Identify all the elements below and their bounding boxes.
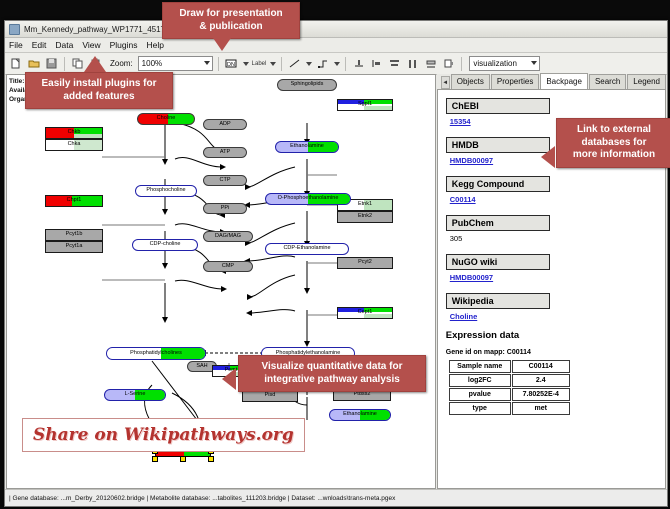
node-ADP[interactable]: ADP (203, 119, 247, 130)
tab-properties[interactable]: Properties (491, 74, 539, 89)
connector-dropdown-icon[interactable] (334, 62, 340, 66)
db-header-kegg: Kegg Compound (446, 176, 550, 192)
line-icon[interactable] (287, 56, 302, 71)
node-L-Serine-left[interactable]: L-Serine (104, 389, 166, 401)
copy-icon[interactable] (70, 56, 85, 71)
db-header-hmdb: HMDB (446, 137, 550, 153)
db-value-pubchem: 305 (450, 234, 665, 243)
plugins-callout-line2: added features (34, 91, 164, 104)
chevron-down-icon (204, 61, 210, 65)
expression-table: Sample name C00114 log2FC 2.4 pvalue 7.8… (448, 359, 571, 416)
datanode-dropdown-icon[interactable] (243, 62, 249, 66)
align-top-icon[interactable] (351, 56, 366, 71)
cell-value-pvalue: 7.80252E-4 (512, 388, 570, 401)
stack-icon[interactable] (423, 56, 438, 71)
gene-id-line: Gene id on mapp: C00114 (446, 349, 665, 356)
status-bar: | Gene database: ...m_Derby_20120602.bri… (5, 489, 667, 506)
db-link-nugo[interactable]: HMDB00097 (450, 273, 665, 282)
menu-item-plugins[interactable]: Plugins (110, 40, 138, 50)
external-db-callout-line3: more information (565, 149, 663, 162)
resize-handle-s[interactable] (180, 456, 186, 462)
tab-backpage[interactable]: Backpage (540, 73, 588, 90)
menu-item-edit[interactable]: Edit (32, 40, 47, 50)
zoom-value: 100% (142, 59, 162, 68)
resize-handle-se[interactable] (208, 456, 214, 462)
node-Phosphocholine[interactable]: Phosphocholine (135, 185, 197, 197)
draw-callout: Draw for presentation & publication (162, 2, 300, 39)
menu-item-file[interactable]: File (9, 40, 23, 50)
plugins-callout-line1: Easily install plugins for (34, 78, 164, 91)
resize-handle-sw[interactable] (152, 456, 158, 462)
label-dropdown-icon[interactable] (270, 62, 276, 66)
menu-item-view[interactable]: View (82, 40, 100, 50)
status-bar-text: | Gene database: ...m_Derby_20120602.bri… (9, 495, 395, 502)
visualize-callout: Visualize quantitative data for integrat… (238, 355, 426, 392)
toolbar-sep-3 (281, 57, 282, 71)
node-Chkb[interactable]: Chkb (45, 127, 103, 139)
toolbar-sep-4 (345, 57, 346, 71)
node-Ethanolamine[interactable]: Ethanolamine (275, 141, 339, 153)
node-Sgpl1[interactable]: Sgpl1 (337, 99, 393, 111)
node-CDP-Ethanolamine[interactable]: CDP-Ethanolamine (265, 243, 349, 255)
tab-objects[interactable]: Objects (451, 74, 490, 89)
node-Etnk2[interactable]: Etnk2 (337, 211, 393, 223)
chevron-down-icon (531, 61, 537, 65)
tab-legend[interactable]: Legend (627, 74, 666, 89)
distribute-horizontal-icon[interactable] (405, 56, 420, 71)
title-bar: Mm_Kennedy_pathway_WP1771_45176.gpml (5, 21, 667, 38)
toolbar-sep-2 (218, 57, 219, 71)
external-db-callout-arrow (541, 146, 555, 168)
cell-key-type: type (449, 402, 511, 415)
share-callout: Share on Wikipathways.org (22, 418, 305, 452)
node-Chpt1[interactable]: Chpt1 (45, 195, 103, 207)
tab-search[interactable]: Search (589, 74, 626, 89)
label-tool-label[interactable]: Label (252, 61, 267, 67)
db-header-pubchem: PubChem (446, 215, 550, 231)
cell-key-pvalue: pvalue (449, 388, 511, 401)
cell-value-type: met (512, 402, 570, 415)
menu-item-data[interactable]: Data (55, 40, 73, 50)
datanode-icon[interactable]: DN (224, 56, 239, 71)
cell-value-log2fc: 2.4 (512, 374, 570, 387)
table-row: type met (449, 402, 570, 415)
new-file-icon[interactable] (8, 56, 23, 71)
distribute-vertical-icon[interactable] (387, 56, 402, 71)
node-CTP[interactable]: CTP (203, 175, 247, 186)
node-Pcyt2[interactable]: Pcyt2 (337, 257, 393, 269)
db-header-chebi: ChEBI (446, 98, 550, 114)
expression-data-heading: Expression data (446, 330, 665, 341)
toolbar-sep-5 (461, 57, 462, 71)
order-icon[interactable] (441, 56, 456, 71)
cell-key-sample-name: Sample name (449, 360, 511, 373)
visualization-value: visualization (473, 59, 517, 68)
line-dropdown-icon[interactable] (306, 62, 312, 66)
toolbar-sep-1 (64, 57, 65, 71)
node-Chka[interactable]: Chka (45, 139, 103, 151)
save-icon[interactable] (44, 56, 59, 71)
side-panel-tabs: ◄ Objects Properties Backpage Search Leg… (437, 74, 666, 89)
app-icon (9, 24, 20, 35)
node-CDP-choline[interactable]: CDP-choline (132, 239, 198, 251)
node-O-Phosphoethanolamine[interactable]: O-Phosphoethanolamine (265, 193, 351, 205)
visualize-callout-arrow-right (412, 368, 426, 390)
db-header-nugo: NuGO wiki (446, 254, 550, 270)
node-Pcyt1b[interactable]: Pcyt1b (45, 229, 103, 241)
node-ATP[interactable]: ATP (203, 147, 247, 158)
zoom-select[interactable]: 100% (138, 56, 213, 71)
connector-icon[interactable] (315, 56, 330, 71)
node-PPi[interactable]: PPi (203, 203, 247, 214)
open-folder-icon[interactable] (26, 56, 41, 71)
screenshot-root: Mm_Kennedy_pathway_WP1771_45176.gpml Fil… (0, 0, 670, 509)
external-db-callout-line2: databases for (565, 137, 663, 150)
node-Sphingolipids[interactable]: Sphingolipids (277, 79, 337, 91)
node-Pcyt1a[interactable]: Pcyt1a (45, 241, 103, 253)
node-Ethanolamine-bottom[interactable]: Ethanolamine (329, 409, 391, 421)
plugins-callout: Easily install plugins for added feature… (25, 72, 173, 109)
table-row: Sample name C00114 (449, 360, 570, 373)
cell-value-sample-name: C00114 (512, 360, 570, 373)
svg-text:DN: DN (227, 62, 235, 68)
node-CMP[interactable]: CMP (203, 261, 253, 272)
node-Phosphatidylcholines[interactable]: Phosphatidylcholines (106, 347, 206, 360)
menu-item-help[interactable]: Help (147, 40, 164, 50)
node-Cept1[interactable]: Cept1 (337, 307, 393, 319)
align-left-icon[interactable] (369, 56, 384, 71)
db-link-kegg[interactable]: C00114 (450, 195, 665, 204)
share-callout-text: Share on Wikipathways.org (33, 425, 294, 445)
draw-callout-line2: & publication (171, 21, 291, 34)
table-row: pvalue 7.80252E-4 (449, 388, 570, 401)
tab-scroll-left-icon[interactable]: ◄ (441, 76, 450, 89)
zoom-label: Zoom: (110, 59, 133, 68)
db-link-wikipedia[interactable]: Choline (450, 312, 665, 321)
menu-bar: File Edit Data View Plugins Help (5, 38, 667, 53)
table-row: log2FC 2.4 (449, 374, 570, 387)
node-Choline[interactable]: Choline (137, 113, 195, 125)
cell-key-log2fc: log2FC (449, 374, 511, 387)
draw-callout-line1: Draw for presentation (171, 8, 291, 21)
visualize-callout-line1: Visualize quantitative data for (247, 361, 417, 374)
plugins-callout-arrow (84, 56, 106, 72)
node-DAG-MAG[interactable]: DAG/MAG (203, 231, 253, 242)
visualize-callout-arrow-left (222, 368, 236, 390)
visualize-callout-line2: integrative pathway analysis (247, 374, 417, 387)
db-header-wikipedia: Wikipedia (446, 293, 550, 309)
visualization-select[interactable]: visualization (469, 56, 540, 71)
external-db-callout-line1: Link to external (565, 124, 663, 137)
external-db-callout: Link to external databases for more info… (556, 118, 670, 168)
draw-callout-arrow (211, 35, 233, 51)
